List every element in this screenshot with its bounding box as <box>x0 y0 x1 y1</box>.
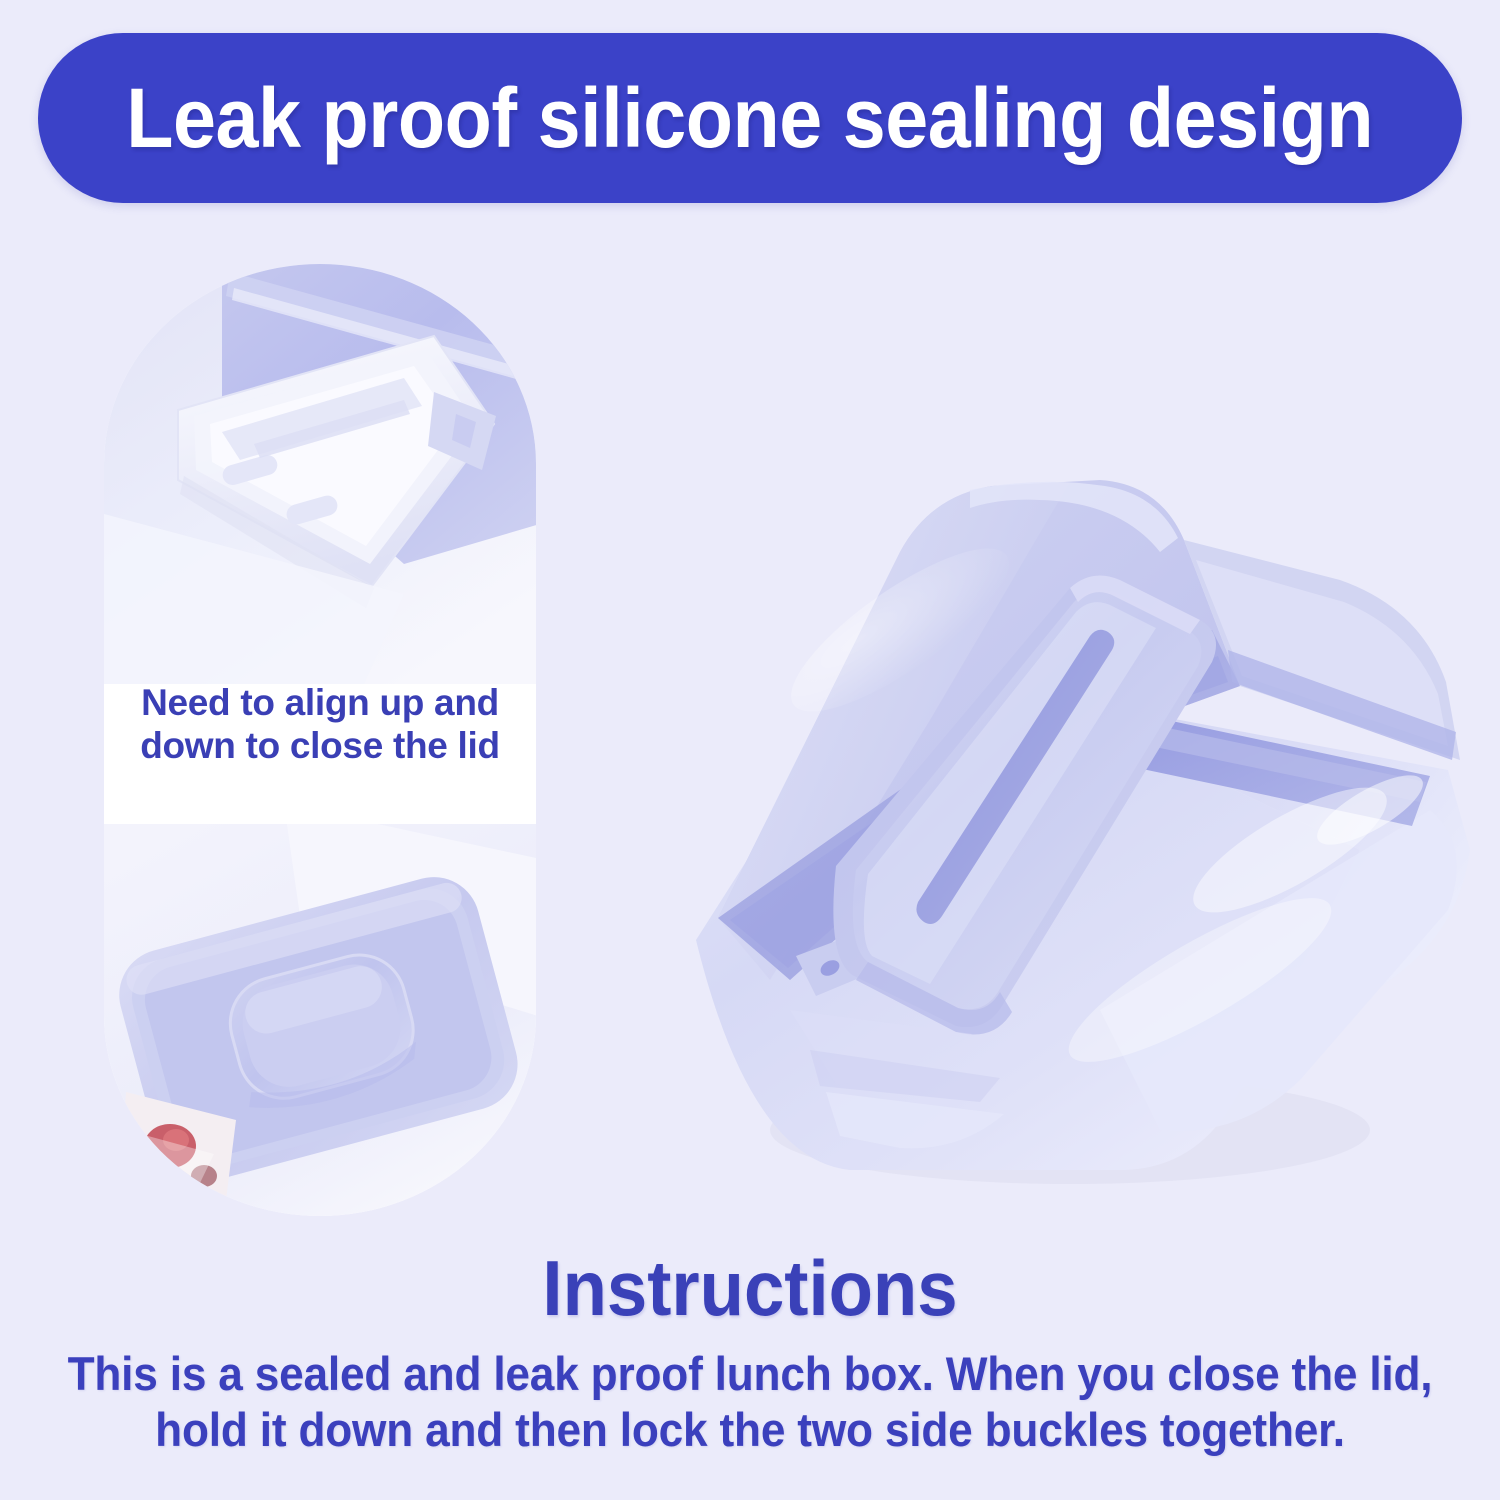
infographic-canvas: Leak proof silicone sealing design <box>0 0 1500 1500</box>
buckle-closeup-photo <box>104 264 536 684</box>
instructions-body-line-2: hold it down and then lock the two side … <box>45 1402 1455 1458</box>
instructions-heading: Instructions <box>53 1248 1448 1330</box>
inset-caption: Need to align up and down to close the l… <box>104 682 536 768</box>
instructions-block: Instructions This is a sealed and leak p… <box>0 1248 1500 1459</box>
silicone-seal-closeup-photo <box>104 824 536 1216</box>
header-banner: Leak proof silicone sealing design <box>38 33 1462 203</box>
hero-product-photo <box>600 290 1480 1210</box>
instructions-body-line-1: This is a sealed and leak proof lunch bo… <box>45 1346 1455 1402</box>
page-title: Leak proof silicone sealing design <box>127 76 1374 160</box>
instructions-body: This is a sealed and leak proof lunch bo… <box>45 1346 1455 1459</box>
inset-panel: Need to align up and down to close the l… <box>104 264 536 1216</box>
